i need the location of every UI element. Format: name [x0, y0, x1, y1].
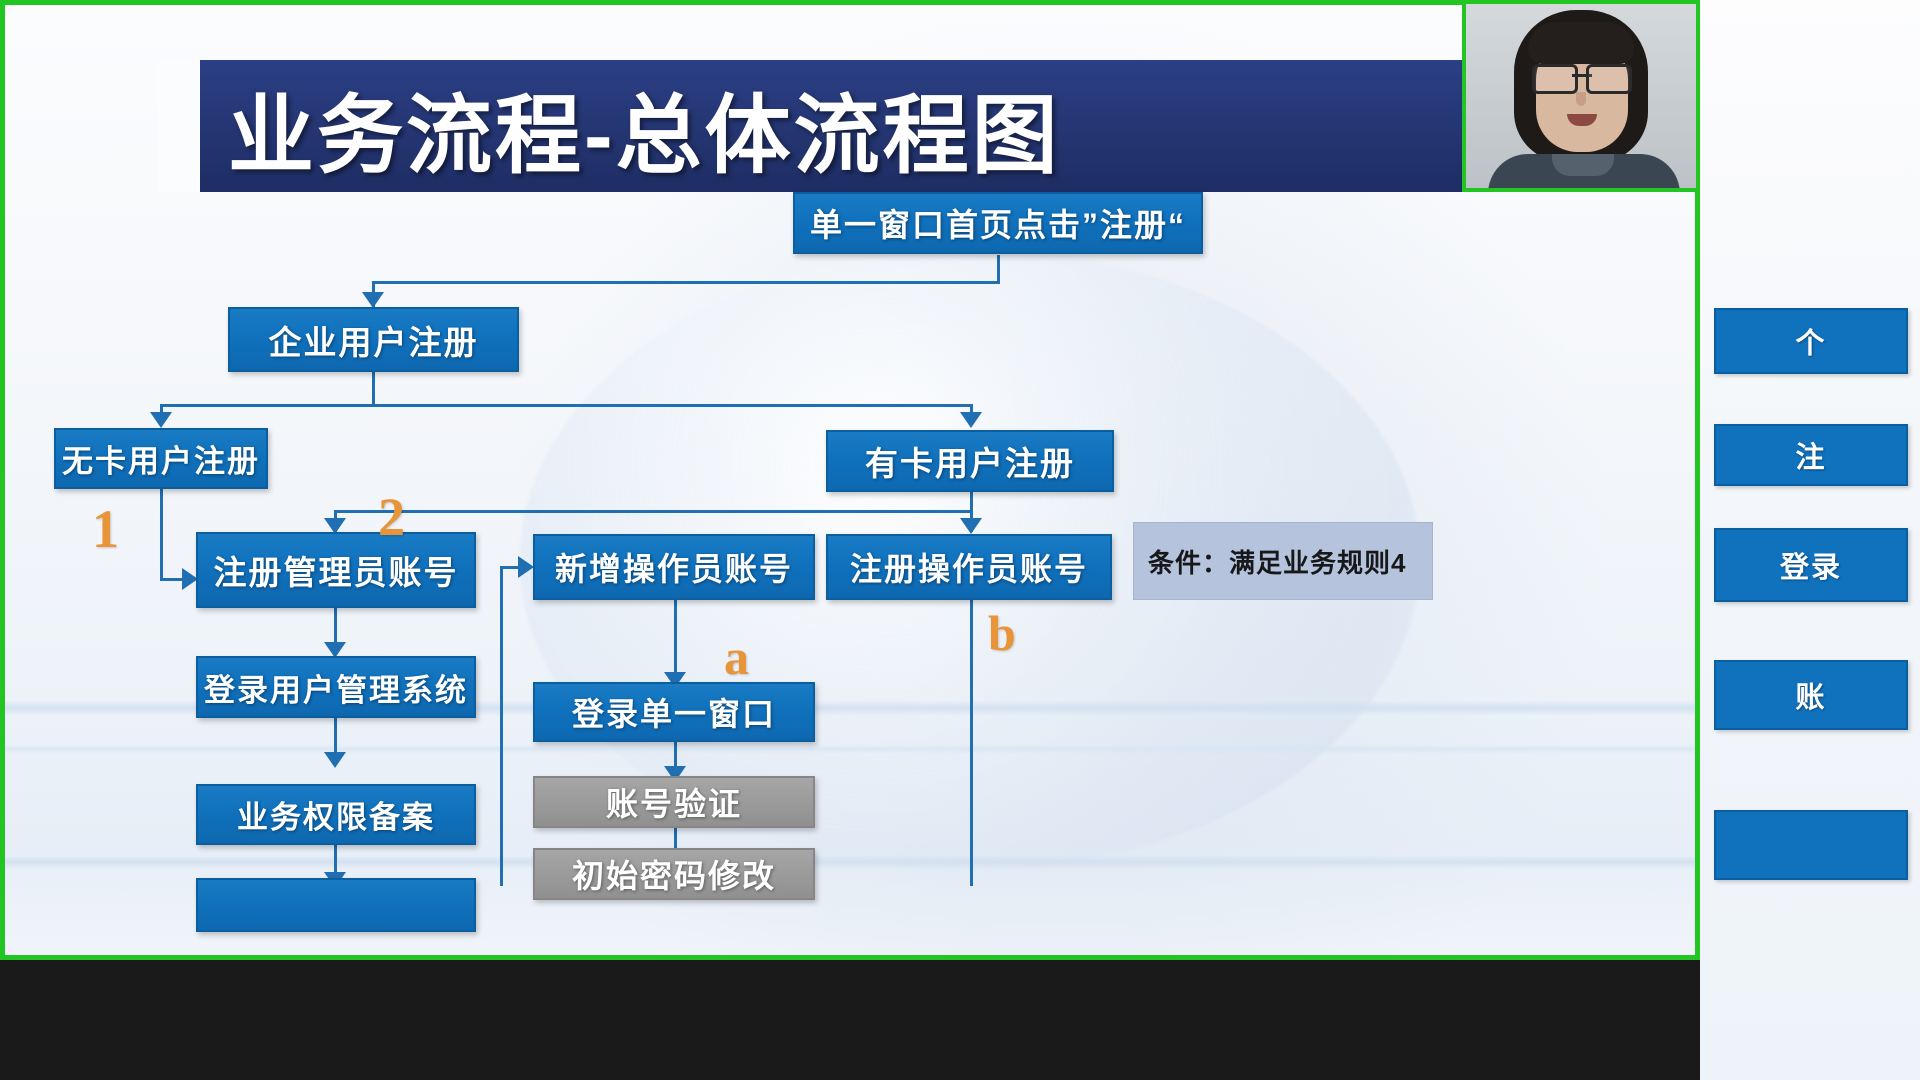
- presenter-webcam[interactable]: [1462, 0, 1700, 192]
- presenter-collar: [1552, 154, 1614, 176]
- node-initial-password-change[interactable]: 初始密码修改: [533, 848, 815, 900]
- right-panel-box-2-label: 注: [1795, 434, 1826, 476]
- branch-label-b-text: b: [988, 605, 1016, 661]
- node-add-operator-account[interactable]: 新增操作员账号: [533, 534, 815, 600]
- glasses-lens-right: [1586, 64, 1632, 94]
- node-entry-label: 单一窗口首页点击”注册“: [810, 200, 1186, 246]
- node-bottom-left-partial[interactable]: [196, 878, 476, 932]
- node-register-operator-account[interactable]: 注册操作员账号: [826, 534, 1112, 600]
- connector: [997, 255, 1000, 283]
- presentation-slide: 业务流程-总体流程图: [0, 0, 1700, 960]
- right-panel-box-5: [1714, 810, 1908, 880]
- connector: [674, 600, 677, 678]
- node-enterprise-register[interactable]: 企业用户注册: [228, 307, 519, 372]
- node-initial-password-change-label: 初始密码修改: [572, 851, 776, 897]
- node-business-authority-filing[interactable]: 业务权限备案: [196, 784, 476, 845]
- presenter-nose: [1576, 92, 1586, 106]
- arrow-head: [960, 518, 982, 534]
- connector: [160, 489, 163, 581]
- node-enterprise-register-label: 企业用户注册: [269, 316, 479, 364]
- right-panel-box-3-label: 登录: [1780, 544, 1842, 586]
- node-login-user-mgmt-system-label: 登录用户管理系统: [204, 665, 468, 710]
- connector: [970, 492, 973, 512]
- node-nocard-register[interactable]: 无卡用户注册: [54, 428, 268, 489]
- connector: [674, 828, 677, 850]
- decorative-band: [0, 744, 1700, 754]
- node-add-operator-account-label: 新增操作员账号: [555, 544, 793, 590]
- branch-label-2: 2: [378, 486, 405, 548]
- connector: [500, 566, 503, 886]
- node-register-operator-account-label: 注册操作员账号: [850, 544, 1088, 590]
- connector: [970, 600, 973, 886]
- arrow-head: [960, 412, 982, 428]
- branch-label-a: a: [724, 628, 749, 686]
- branch-label-1-text: 1: [92, 499, 119, 559]
- node-register-admin-account-label: 注册管理员账号: [214, 546, 459, 594]
- arrow-head: [324, 752, 346, 768]
- right-slide-panel: 个 注 登录 账: [1700, 0, 1920, 1080]
- arrow-head: [362, 292, 384, 308]
- condition-note-label: 条件：满足业务规则4: [1148, 543, 1406, 580]
- decorative-band: [0, 855, 1700, 869]
- glasses-lens-left: [1532, 64, 1578, 94]
- page-title: 业务流程-总体流程图: [228, 66, 1061, 188]
- right-panel-box-2: 注: [1714, 424, 1908, 486]
- node-business-authority-filing-label: 业务权限备案: [237, 792, 435, 837]
- connector: [372, 281, 1000, 284]
- presenter-fringe: [1528, 22, 1634, 64]
- right-panel-box-4: 账: [1714, 660, 1908, 730]
- node-entry[interactable]: 单一窗口首页点击”注册“: [793, 192, 1203, 254]
- glasses-icon: [1532, 64, 1632, 88]
- right-panel-box-4-label: 账: [1795, 674, 1826, 716]
- branch-label-b: b: [988, 604, 1016, 662]
- shared-screen-region: 业务流程-总体流程图: [0, 0, 1700, 960]
- connector: [160, 404, 972, 407]
- branch-label-2-text: 2: [378, 487, 405, 547]
- connector: [372, 372, 375, 406]
- arrow-head: [518, 556, 534, 578]
- right-panel-box-1-label: 个: [1795, 320, 1826, 362]
- node-account-verify-label: 账号验证: [606, 779, 742, 825]
- right-panel-box-3: 登录: [1714, 528, 1908, 602]
- connector: [334, 608, 337, 646]
- branch-label-a-text: a: [724, 629, 749, 685]
- node-login-single-window[interactable]: 登录单一窗口: [533, 682, 815, 742]
- condition-note: 条件：满足业务规则4: [1133, 522, 1433, 600]
- right-panel-box-1: 个: [1714, 308, 1908, 374]
- node-login-single-window-label: 登录单一窗口: [572, 689, 776, 735]
- node-account-verify[interactable]: 账号验证: [533, 776, 815, 828]
- title-spine: [158, 60, 200, 192]
- screen: 个 注 登录 账 业务流程-总体流程图: [0, 0, 1920, 1080]
- arrow-head: [150, 412, 172, 428]
- connector: [334, 510, 972, 513]
- node-nocard-register-label: 无卡用户注册: [62, 436, 260, 481]
- connector: [334, 718, 337, 756]
- node-hascard-register[interactable]: 有卡用户注册: [826, 430, 1114, 492]
- branch-label-1: 1: [92, 498, 119, 560]
- node-hascard-register-label: 有卡用户注册: [865, 437, 1075, 485]
- node-register-admin-account[interactable]: 注册管理员账号: [196, 532, 476, 608]
- node-login-user-mgmt-system[interactable]: 登录用户管理系统: [196, 656, 476, 718]
